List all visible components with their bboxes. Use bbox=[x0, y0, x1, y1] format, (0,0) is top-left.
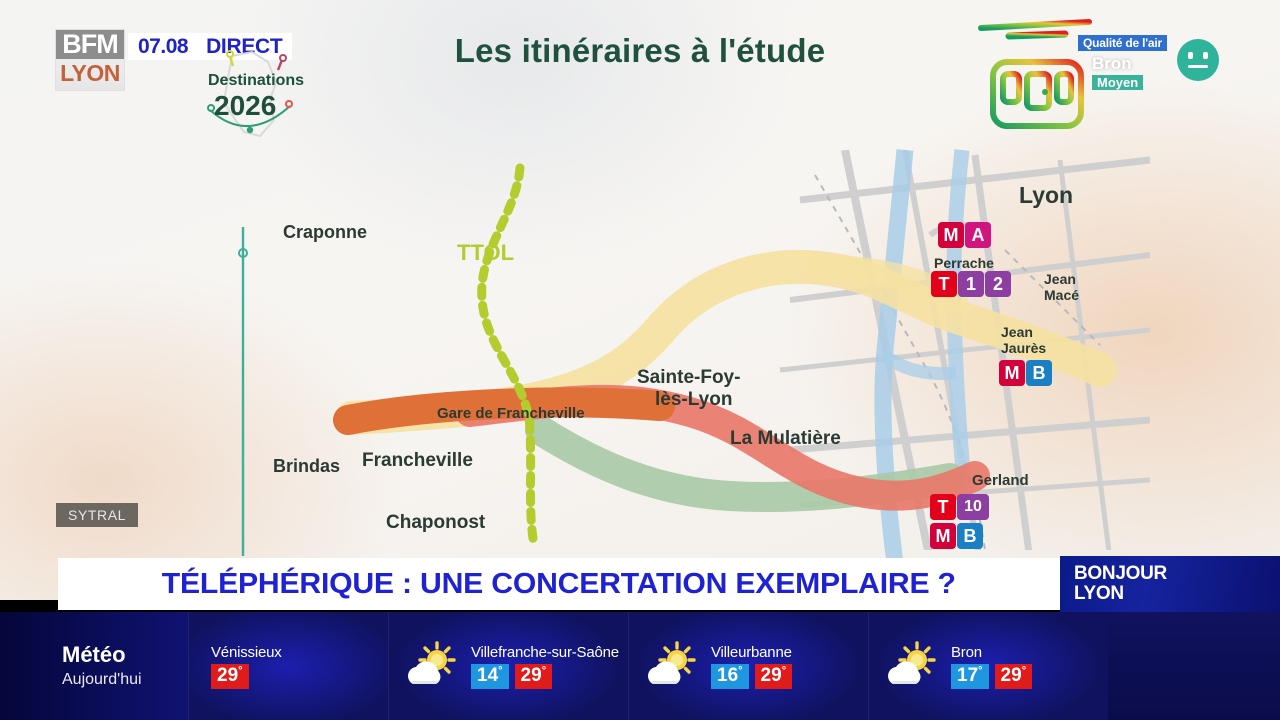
weather-city-name: Bron bbox=[951, 644, 1032, 661]
weather-temperatures: 17°29° bbox=[951, 664, 1032, 689]
map-label: Perrache bbox=[934, 255, 994, 271]
transit-badge: 10 bbox=[957, 494, 989, 520]
weather-city-name: Vénissieux bbox=[211, 644, 282, 661]
map-label: Chaponost bbox=[386, 512, 485, 534]
transit-badge: 1 bbox=[958, 271, 984, 297]
boundary-line bbox=[239, 227, 247, 556]
channel-logo-top: BFM bbox=[56, 30, 124, 59]
map-label: Sainte-Foy- bbox=[637, 367, 740, 389]
weather-temperatures: 16°29° bbox=[711, 664, 792, 689]
source-credit: SYTRAL bbox=[56, 503, 138, 527]
map-label: lès-Lyon bbox=[655, 389, 732, 411]
map-label: Brindas bbox=[273, 456, 340, 477]
temp-max: 29° bbox=[515, 664, 553, 689]
temp-max: 29° bbox=[995, 664, 1033, 689]
weather-city-cell: Vénissieux29° bbox=[188, 612, 388, 720]
perrache-metro-badges: MA bbox=[938, 222, 992, 248]
transit-badge: M bbox=[930, 523, 956, 549]
map-label: Jean bbox=[1044, 271, 1076, 287]
transit-badge: A bbox=[965, 222, 991, 248]
weather-title: Météo bbox=[62, 643, 142, 667]
program-badge: BONJOUR LYON bbox=[1060, 556, 1280, 612]
map-label: Gerland bbox=[972, 472, 1029, 489]
ttol-dotted-line bbox=[482, 168, 534, 545]
program-line1: BONJOUR bbox=[1074, 564, 1280, 584]
sun-cloud-icon bbox=[403, 640, 461, 692]
headline-text: TÉLÉPHÉRIQUE : UNE CONCERTATION EXEMPLAI… bbox=[162, 568, 956, 601]
temp-max: 29° bbox=[211, 664, 249, 689]
program-line2: LYON bbox=[1074, 584, 1280, 604]
map-label: Macé bbox=[1044, 287, 1079, 303]
map-label: Jaurès bbox=[1001, 340, 1046, 356]
air-quality-title: Qualité de l'air bbox=[1078, 35, 1167, 51]
air-quality-widget: Qualité de l'air Bron Moyen bbox=[1078, 34, 1278, 92]
weather-city-name: Villeurbanne bbox=[711, 644, 792, 661]
cable-car-icon bbox=[975, 14, 1095, 146]
sun-cloud-icon bbox=[643, 640, 701, 692]
perrache-tram-badges: T12 bbox=[931, 271, 1012, 297]
weather-city-cell: Villefranche-sur-Saône14°29° bbox=[388, 612, 628, 720]
sun-cloud-icon bbox=[403, 640, 461, 692]
temp-min: 16° bbox=[711, 664, 749, 689]
sun-cloud-icon bbox=[883, 640, 941, 692]
jean-jaures-badges: MB bbox=[999, 360, 1053, 386]
weather-city-cell: Villeurbanne16°29° bbox=[628, 612, 868, 720]
map-label: La Mulatière bbox=[730, 428, 841, 450]
weather-city-name: Villefranche-sur-Saône bbox=[471, 644, 619, 661]
channel-logo-bottom: LYON bbox=[56, 59, 124, 88]
air-quality-level: Moyen bbox=[1092, 75, 1143, 90]
weather-title-cell: Météo Aujourd'hui bbox=[0, 612, 188, 720]
transit-badge: M bbox=[999, 360, 1025, 386]
temp-min: 14° bbox=[471, 664, 509, 689]
temp-min: 17° bbox=[951, 664, 989, 689]
map-label: Jean bbox=[1001, 324, 1033, 340]
neutral-face-icon bbox=[1177, 39, 1219, 81]
channel-logo: BFM LYON bbox=[56, 30, 124, 90]
weather-strip: Météo Aujourd'hui Vénissieux29° Villefra… bbox=[0, 612, 1280, 720]
weather-city-cell: Bron17°29° bbox=[868, 612, 1108, 720]
gerland-tram-badges: T10 bbox=[930, 494, 990, 520]
weather-temperatures: 14°29° bbox=[471, 664, 619, 689]
map-label: TTOL bbox=[457, 240, 514, 266]
weather-temperatures: 29° bbox=[211, 664, 282, 689]
campaign-logo: Destinations 2026 bbox=[190, 48, 310, 148]
tv-broadcast-screen: Les itinéraires à l'étude CraponneTTOLGa… bbox=[0, 0, 1280, 720]
map-label: Francheville bbox=[362, 450, 473, 472]
temp-max: 29° bbox=[755, 664, 793, 689]
transit-badge: T bbox=[930, 494, 956, 520]
transit-badge: B bbox=[1026, 360, 1052, 386]
transit-badge: T bbox=[931, 271, 957, 297]
weather-cities: Vénissieux29° Villefranche-sur-Saône14°2… bbox=[188, 612, 1108, 720]
campaign-line1: Destinations bbox=[208, 72, 304, 90]
headline-banner: TÉLÉPHÉRIQUE : UNE CONCERTATION EXEMPLAI… bbox=[58, 558, 1060, 610]
transit-badge: B bbox=[957, 523, 983, 549]
map-label: Gare de Francheville bbox=[437, 405, 585, 422]
sun-cloud-icon bbox=[643, 640, 701, 692]
weather-subtitle: Aujourd'hui bbox=[62, 670, 142, 689]
transit-badge: 2 bbox=[985, 271, 1011, 297]
gerland-metro-badges: MB bbox=[930, 523, 984, 549]
sun-cloud-icon bbox=[883, 640, 941, 692]
transit-badge: M bbox=[938, 222, 964, 248]
map-label: Craponne bbox=[283, 222, 367, 243]
clock-time: 07.08 bbox=[138, 35, 188, 59]
campaign-line2: 2026 bbox=[214, 90, 276, 122]
map-label: Lyon bbox=[1019, 182, 1073, 209]
